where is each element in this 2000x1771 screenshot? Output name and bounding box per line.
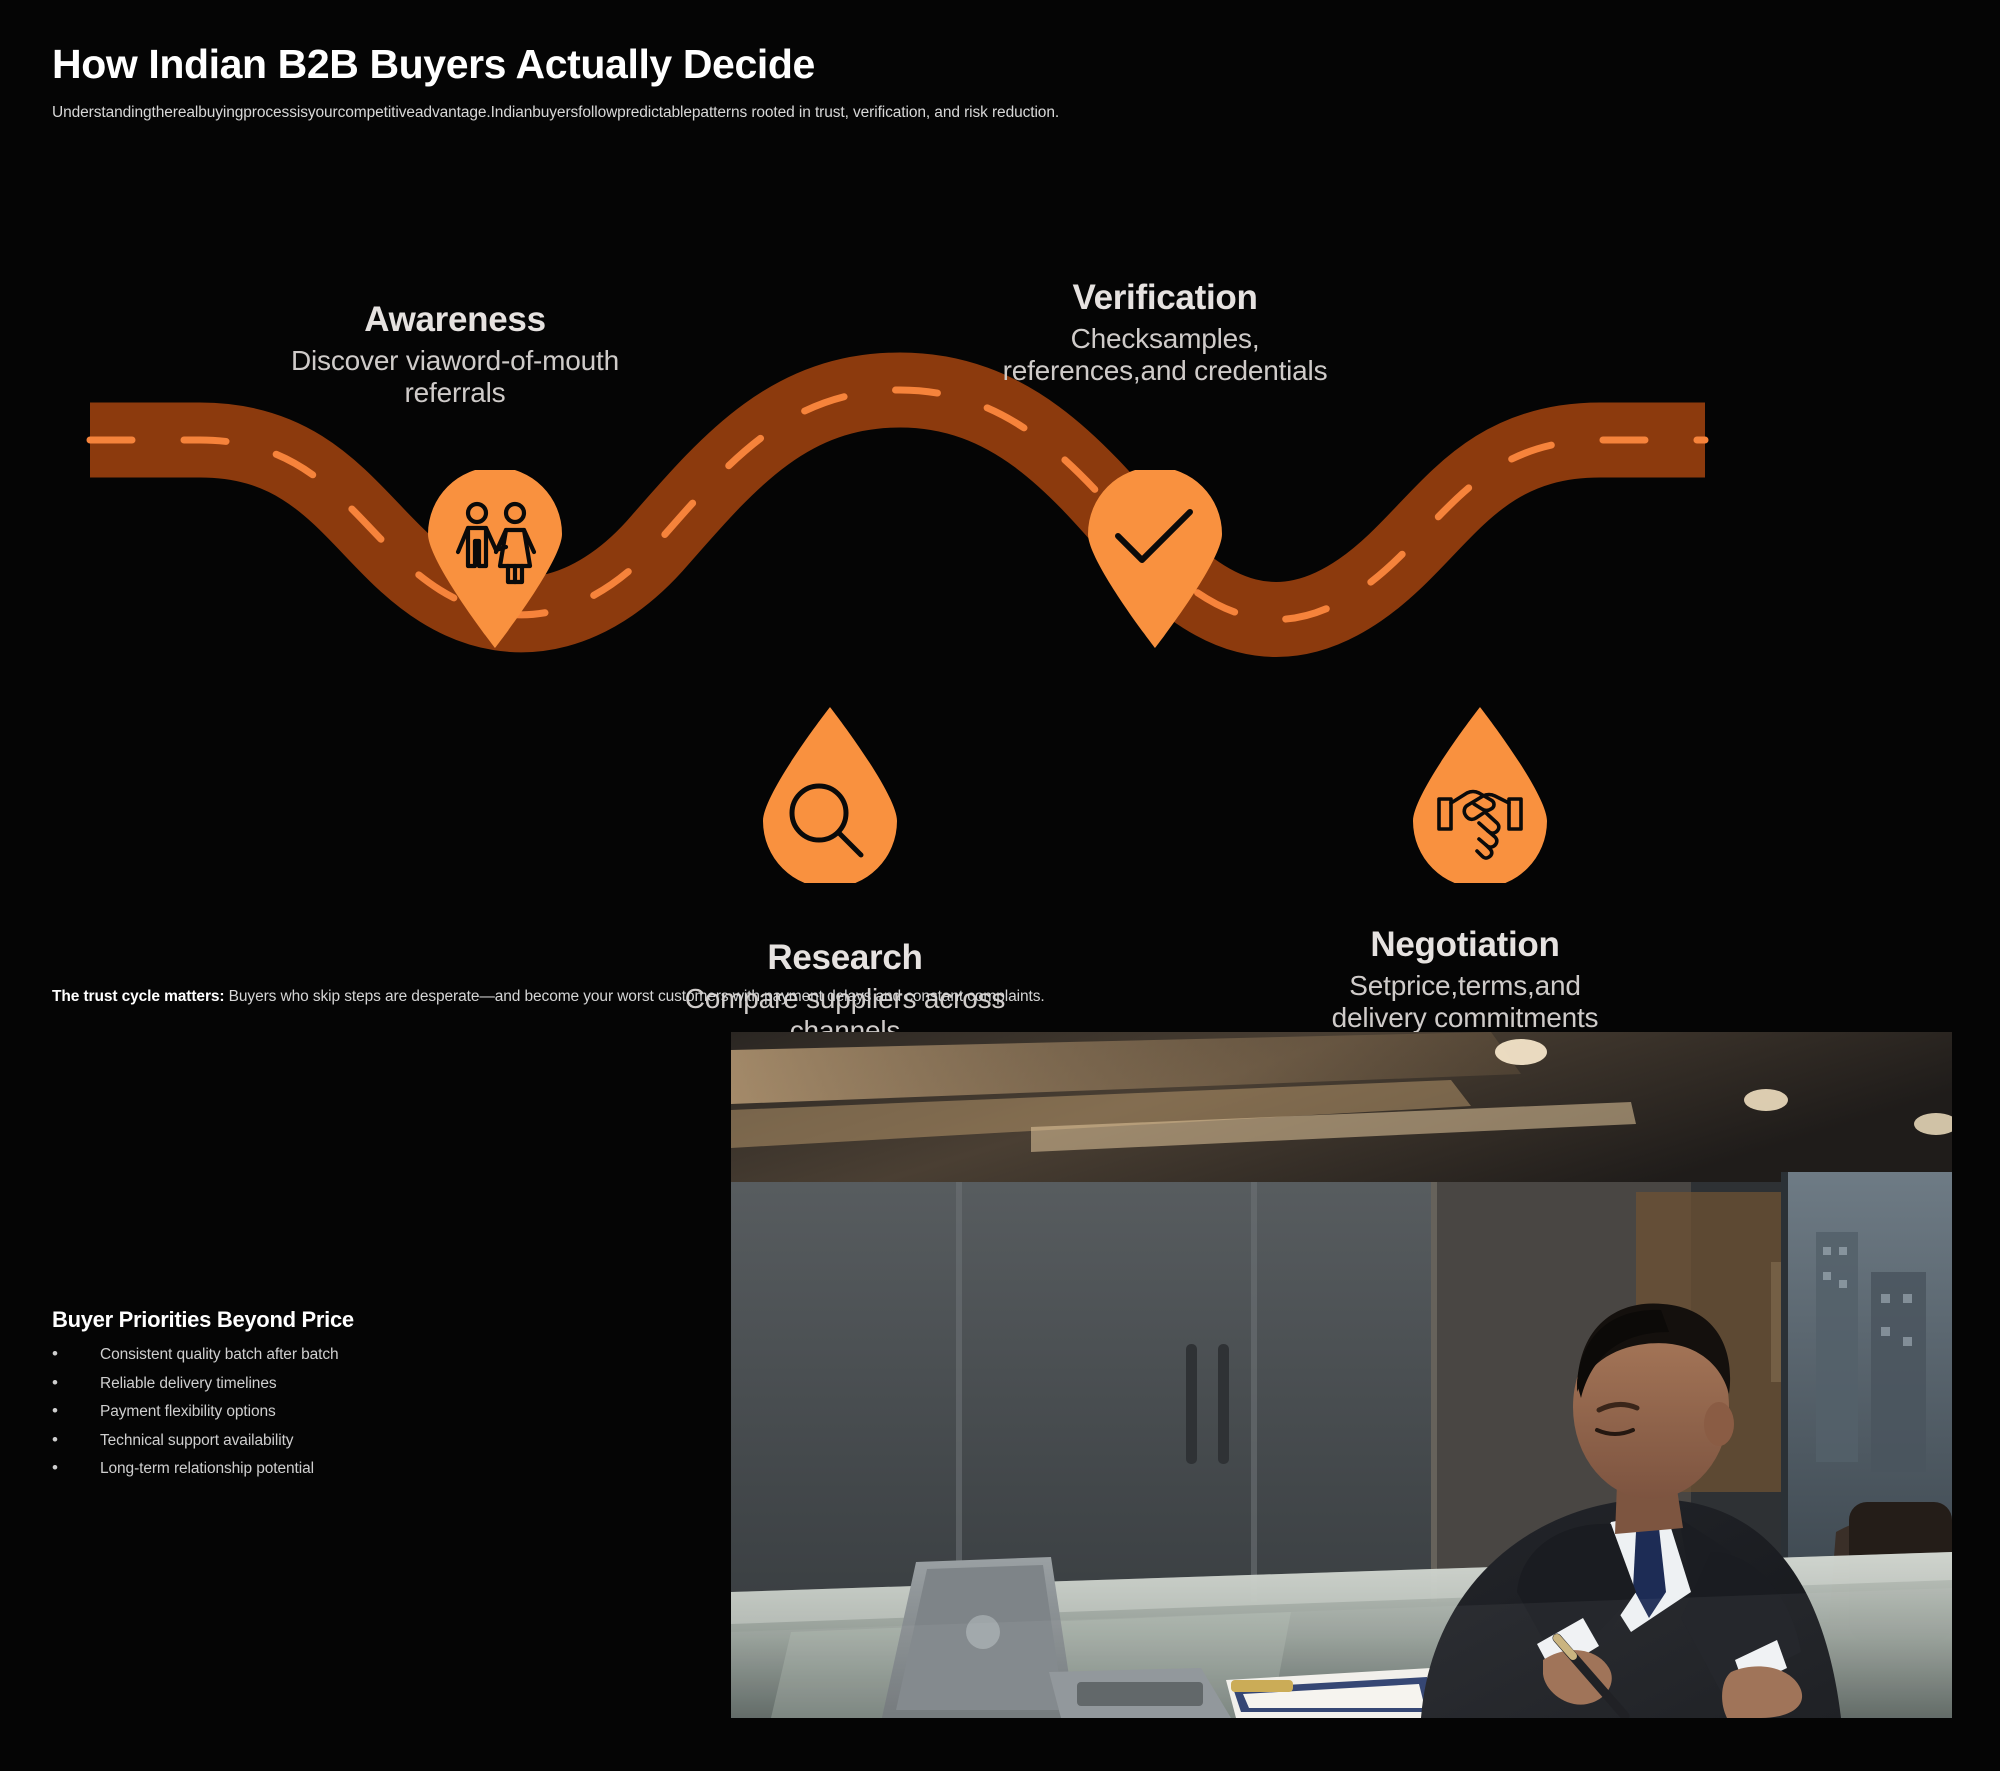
businessman-photo (731, 1032, 1952, 1718)
stage-title-awareness: Awareness (290, 300, 620, 339)
stage-desc-awareness: Discover viaword-of-mouth referrals (290, 345, 620, 409)
stage-title-negotiation: Negotiation (1300, 925, 1630, 964)
trust-cycle-note: The trust cycle matters: Buyers who skip… (52, 988, 1045, 1006)
road-surface (90, 390, 1705, 619)
trust-note-lead: The trust cycle matters: (52, 988, 224, 1005)
page-title: How Indian B2B Buyers Actually Decide (52, 42, 1752, 87)
stage-label-negotiation: Negotiation Setprice,terms,and delivery … (1300, 925, 1630, 1035)
map-pin-research (755, 703, 905, 883)
list-item: Consistent quality batch after batch (52, 1347, 472, 1363)
stage-label-verification: Verification Checksamples, references,an… (1000, 278, 1330, 388)
map-pin-awareness (420, 470, 570, 650)
stage-title-verification: Verification (1000, 278, 1330, 317)
header: How Indian B2B Buyers Actually Decide Un… (52, 42, 1752, 123)
list-item: Technical support availability (52, 1433, 472, 1449)
pin-shape (1088, 470, 1222, 648)
map-pin-negotiation (1405, 703, 1555, 883)
pin-shape (428, 470, 562, 648)
stage-label-awareness: Awareness Discover viaword-of-mouth refe… (290, 300, 620, 410)
stage-desc-verification: Checksamples, references,and credentials (1000, 323, 1330, 387)
journey-road-section: Awareness Discover viaword-of-mouth refe… (0, 120, 2000, 990)
photo-illustration (731, 1032, 1952, 1718)
winding-road-graphic (0, 120, 2000, 990)
map-pin-verification (1080, 470, 1230, 650)
stage-title-research: Research (680, 938, 1010, 977)
list-item: Payment flexibility options (52, 1404, 472, 1420)
priorities-list: Consistent quality batch after batch Rel… (52, 1347, 472, 1477)
priorities-title: Buyer Priorities Beyond Price (52, 1307, 472, 1333)
trust-note-text: Buyers who skip steps are desperate—and … (224, 988, 1044, 1005)
list-item: Reliable delivery timelines (52, 1376, 472, 1392)
buyer-priorities-section: Buyer Priorities Beyond Price Consistent… (52, 1307, 472, 1490)
infographic-page: How Indian B2B Buyers Actually Decide Un… (0, 0, 2000, 1771)
pin-shape (763, 707, 897, 883)
stage-desc-negotiation: Setprice,terms,and delivery commitments (1300, 970, 1630, 1034)
list-item: Long-term relationship potential (52, 1461, 472, 1477)
